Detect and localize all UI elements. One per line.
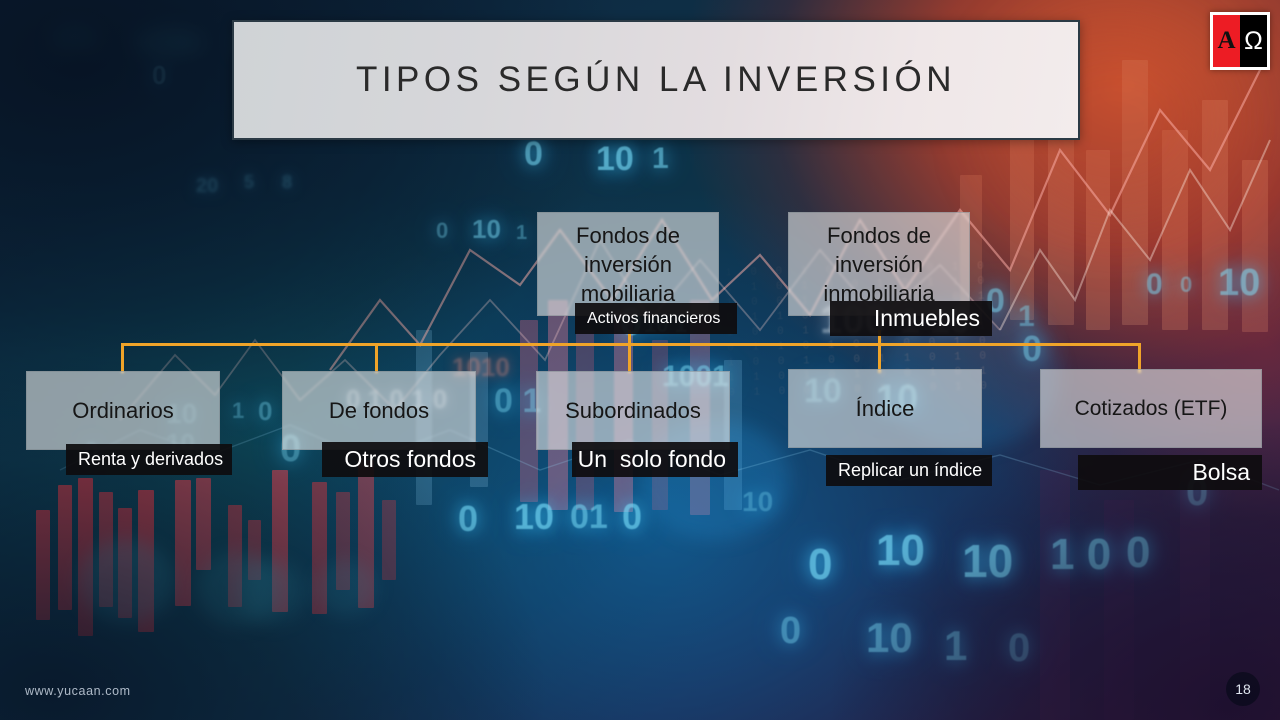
logo-alpha-glyph: A <box>1213 15 1240 67</box>
tag-renta-y-derivados[interactable]: Renta y derivados <box>66 444 232 475</box>
page-title: TIPOS SEGÚN LA INVERSIÓN <box>356 60 956 100</box>
connector-drop-ordinarios <box>121 343 124 373</box>
node-ordinarios-label: Ordinarios <box>66 396 179 425</box>
node-cotizados-etf[interactable]: Cotizados (ETF) <box>1040 369 1262 448</box>
slide-root: 0 1 0 0 1 0 0 1 1 0 1 0 0 1 1 0 1 0 0 1 … <box>0 0 1280 720</box>
tag-activos-financieros-label: Activos financieros <box>587 310 720 328</box>
tag-un-solo-fondo-label: Un solo fondo <box>578 446 726 473</box>
node-de-fondos[interactable]: De fondos <box>282 371 476 450</box>
connector-horizontal-rail <box>121 343 1141 346</box>
node-subordinados[interactable]: Subordinados <box>536 371 730 450</box>
tag-renta-y-derivados-label: Renta y derivados <box>78 449 223 470</box>
node-fondos-inmobiliaria-label: Fondos de inversión inmobiliaria <box>817 221 940 308</box>
tag-replicar-un-indice-label: Replicar un índice <box>838 460 982 481</box>
footer-website-url[interactable]: www.yucaan.com <box>25 684 131 698</box>
logo-omega-glyph: Ω <box>1240 15 1267 67</box>
brand-logo: A Ω <box>1210 12 1270 70</box>
connector-drop-defondos <box>375 343 378 373</box>
tag-bolsa-label: Bolsa <box>1192 459 1250 486</box>
tag-otros-fondos-label: Otros fondos <box>344 446 476 473</box>
tag-replicar-un-indice[interactable]: Replicar un índice <box>826 455 992 486</box>
page-number-text: 18 <box>1235 681 1251 697</box>
tag-bolsa[interactable]: Bolsa <box>1078 455 1262 490</box>
node-indice-label: Índice <box>850 394 921 423</box>
tag-activos-financieros[interactable]: Activos financieros <box>575 303 737 334</box>
node-cotizados-etf-label: Cotizados (ETF) <box>1069 394 1234 423</box>
node-ordinarios[interactable]: Ordinarios <box>26 371 220 450</box>
slide-title-box: TIPOS SEGÚN LA INVERSIÓN <box>232 20 1080 140</box>
node-fondos-mobiliaria[interactable]: Fondos de inversión mobiliaria <box>537 212 719 316</box>
page-number-badge: 18 <box>1226 672 1260 706</box>
tag-inmuebles[interactable]: Inmuebles <box>830 301 992 336</box>
connector-drop-subordinados <box>628 343 631 373</box>
tag-un-solo-fondo[interactable]: Un solo fondo <box>572 442 738 477</box>
node-fondos-mobiliaria-label: Fondos de inversión mobiliaria <box>570 221 686 308</box>
node-subordinados-label: Subordinados <box>559 396 707 425</box>
tag-inmuebles-label: Inmuebles <box>874 305 980 332</box>
node-de-fondos-label: De fondos <box>323 396 435 425</box>
node-indice[interactable]: Índice <box>788 369 982 448</box>
tag-otros-fondos[interactable]: Otros fondos <box>322 442 488 477</box>
